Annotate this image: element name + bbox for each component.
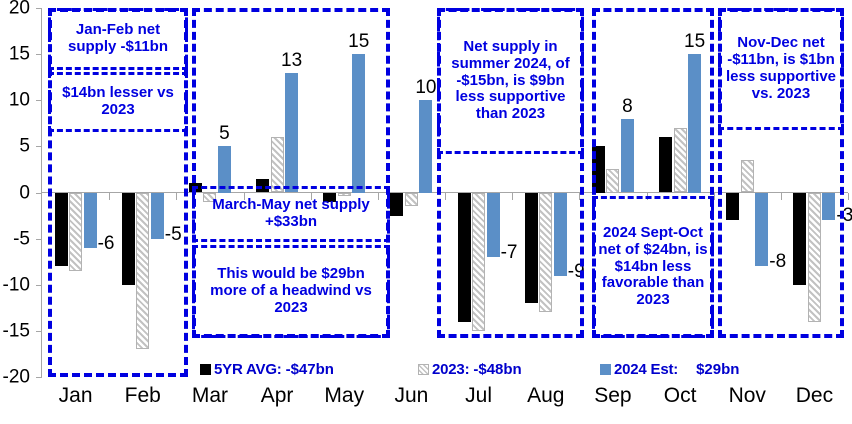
x-axis-label-may: May	[324, 384, 364, 408]
y-axis-tick-label: 15	[9, 45, 30, 64]
annotation-jan-feb-net: Jan-Feb net supply -$11bn	[48, 8, 188, 70]
x-axis-label-oct: Oct	[664, 384, 697, 408]
legend-value: $29bn	[696, 361, 739, 378]
annotation-mar-may-net: March-May net supply +$33bn	[192, 186, 390, 242]
legend-swatch-icon	[418, 364, 429, 375]
legend-value: -$47bn	[286, 361, 334, 378]
x-axis-label-apr: Apr	[261, 384, 294, 408]
y-axis-tick-label: 0	[19, 183, 30, 202]
y-axis-tick-label: 20	[9, 0, 30, 18]
chart-legend: 5YR AVG:-$47bn2023:-$48bn2024 Est:$29bn	[200, 358, 760, 380]
y-axis-tick-label: -15	[3, 321, 30, 340]
legend-label: 5YR AVG:	[214, 361, 282, 378]
legend-item-2023[interactable]: 2023:-$48bn	[418, 361, 522, 378]
bar-jun-2023[interactable]	[405, 193, 418, 207]
legend-swatch-icon	[600, 364, 611, 375]
y-axis-tick-label: -5	[13, 229, 30, 248]
x-axis-label-feb: Feb	[125, 384, 161, 408]
annotation-sept-oct-net: 2024 Sept-Oct net of $24bn, is $14bn les…	[592, 196, 714, 338]
annotation-summer-net: Net supply in summer 2024, of -$15bn, is…	[437, 8, 584, 154]
x-axis-tick	[848, 193, 849, 200]
x-axis-label-aug: Aug	[527, 384, 564, 408]
x-axis-labels: JanFebMarAprMayJunJulAugSepOctNovDec	[42, 384, 848, 418]
y-axis: 20151050-5-10-15-20	[0, 0, 42, 390]
annotation-nov-dec-net: Nov-Dec net -$11bn, is $1bn less support…	[718, 8, 844, 130]
annotation-jan-feb-lesser: $14bn lesser vs 2023	[48, 72, 188, 132]
annotation-mar-may-headwind: This would be $29bn more of a headwind v…	[192, 245, 390, 338]
legend-item-2024-est[interactable]: 2024 Est:$29bn	[600, 361, 739, 378]
y-axis-tick-label: 10	[9, 91, 30, 110]
bar-jun-2024-est[interactable]	[419, 100, 432, 192]
x-axis-label-nov: Nov	[729, 384, 766, 408]
legend-value: -$48bn	[473, 361, 521, 378]
bar-jun-5yr-avg[interactable]	[390, 193, 403, 216]
legend-item-5yr-avg[interactable]: 5YR AVG:-$47bn	[200, 361, 334, 378]
legend-label: 2024 Est:	[614, 361, 678, 378]
y-axis-tick-label: -10	[3, 275, 30, 294]
x-axis-label-dec: Dec	[796, 384, 833, 408]
legend-label: 2023:	[432, 361, 469, 378]
y-axis-tick	[36, 377, 42, 378]
x-axis-label-jan: Jan	[59, 384, 93, 408]
x-axis-label-sep: Sep	[594, 384, 631, 408]
data-label-jun: 10	[415, 78, 436, 97]
x-axis-label-jun: Jun	[394, 384, 428, 408]
y-axis-tick-label: 5	[19, 137, 30, 156]
legend-swatch-icon	[200, 364, 211, 375]
y-axis-tick-label: -20	[3, 368, 30, 387]
net-supply-bar-chart: 20151050-5-10-15-20 -6-55131510-7-9815-8…	[0, 0, 852, 424]
x-axis-label-mar: Mar	[192, 384, 228, 408]
x-axis-label-jul: Jul	[465, 384, 492, 408]
